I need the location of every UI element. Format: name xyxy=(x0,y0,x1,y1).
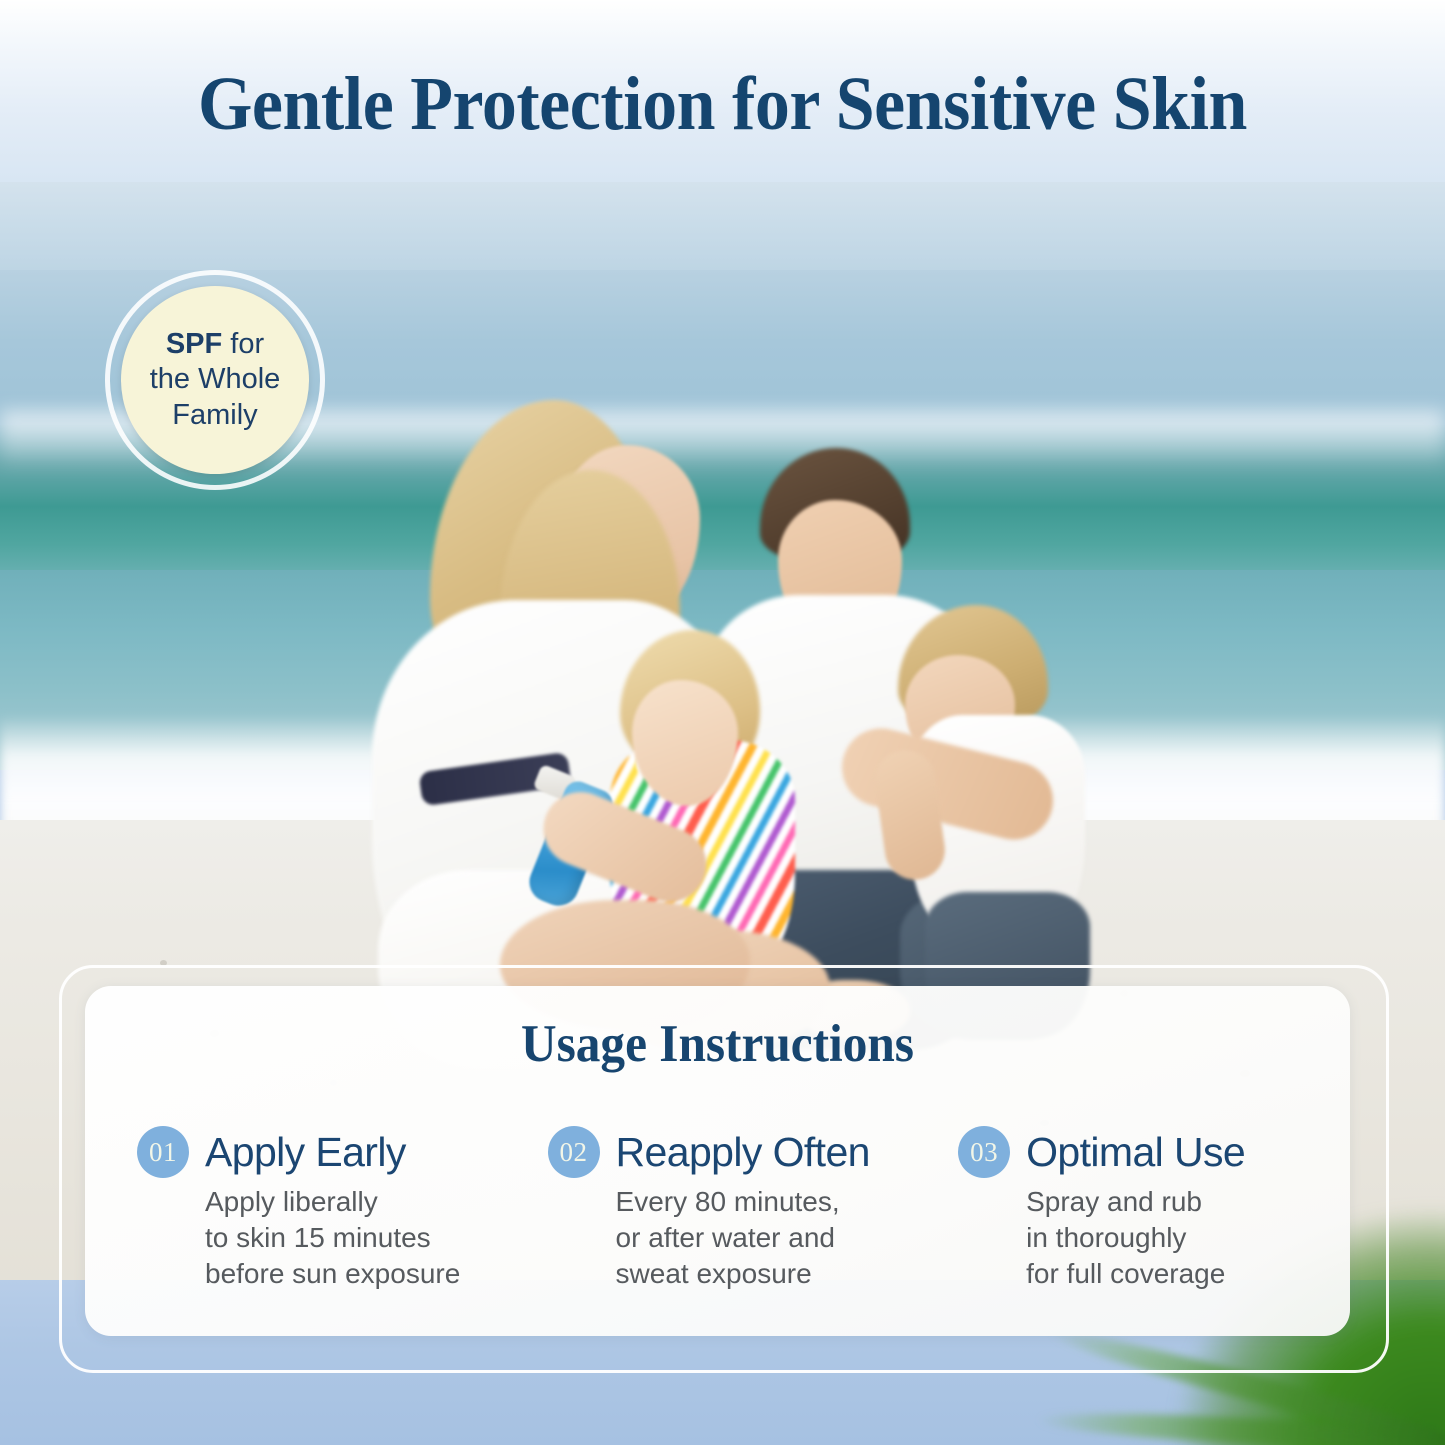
page-title: Gentle Protection for Sensitive Skin xyxy=(58,66,1387,142)
spf-badge-line1-rest: for xyxy=(222,328,264,360)
spf-badge-line2: the Whole xyxy=(150,363,281,395)
usage-steps-row: 01 Apply Early Apply liberally to skin 1… xyxy=(137,1126,1310,1292)
step-number-badge-03: 03 xyxy=(958,1126,1010,1178)
usage-step-3-body: Spray and rub in thoroughly for full cov… xyxy=(1026,1184,1310,1292)
usage-step-1-title: Apply Early xyxy=(205,1129,406,1176)
usage-step-1-head: 01 Apply Early xyxy=(137,1126,548,1178)
usage-step-3-title: Optimal Use xyxy=(1026,1129,1245,1176)
step-number-badge-02: 02 xyxy=(548,1126,600,1178)
spf-badge-text: SPF for the Whole Family xyxy=(150,327,281,433)
usage-step-2-body: Every 80 minutes, or after water and swe… xyxy=(616,1184,959,1292)
spf-badge-inner: SPF for the Whole Family xyxy=(121,286,309,474)
spf-badge-line3: Family xyxy=(172,399,257,431)
usage-step-1-body: Apply liberally to skin 15 minutes befor… xyxy=(205,1184,548,1292)
usage-step-3: 03 Optimal Use Spray and rub in thorough… xyxy=(958,1126,1310,1292)
usage-step-2-head: 02 Reapply Often xyxy=(548,1126,959,1178)
usage-step-2: 02 Reapply Often Every 80 minutes, or af… xyxy=(548,1126,959,1292)
usage-instructions-panel: Usage Instructions 01 Apply Early Apply … xyxy=(85,986,1350,1336)
step-number-badge-01: 01 xyxy=(137,1126,189,1178)
usage-step-1: 01 Apply Early Apply liberally to skin 1… xyxy=(137,1126,548,1292)
poster-canvas: Gentle Protection for Sensitive Skin SPF… xyxy=(0,0,1445,1445)
spf-badge-line1-bold: SPF xyxy=(166,328,222,360)
header-band: Gentle Protection for Sensitive Skin xyxy=(0,0,1445,182)
usage-panel-title: Usage Instructions xyxy=(129,1014,1305,1074)
usage-step-2-title: Reapply Often xyxy=(616,1129,870,1176)
spf-badge: SPF for the Whole Family xyxy=(105,270,325,490)
usage-step-3-head: 03 Optimal Use xyxy=(958,1126,1310,1178)
